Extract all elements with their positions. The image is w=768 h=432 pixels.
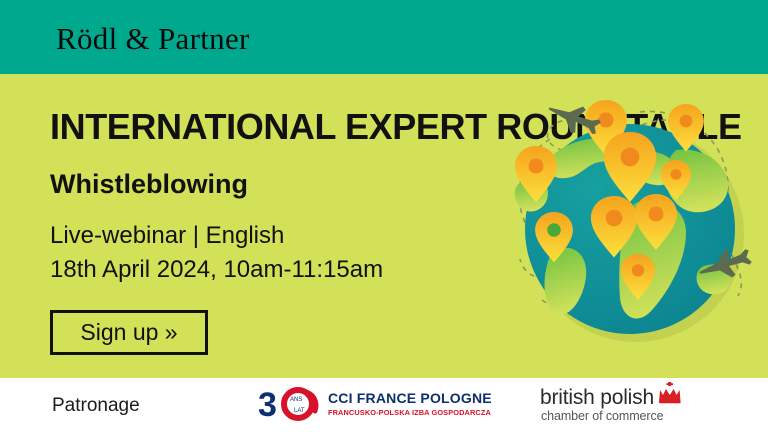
cci-mark-ans-label: ANS [290, 397, 302, 403]
cci-subtitle: FRANCUSKO-POLSKA IZBA GOSPODARCZA [328, 408, 492, 417]
webinar-promo-banner: Rödl & Partner INTERNATIONAL EXPERT ROUN… [0, 0, 768, 432]
cci-text-wrap: CCI FRANCE POLOGNE FRANCUSKO-POLSKA IZBA… [328, 390, 492, 417]
bpcc-subtitle: chamber of commerce [541, 409, 663, 423]
bpcc-title: british polish [540, 386, 654, 410]
event-datetime-text: 18th April 2024, 10am-11:15am [50, 256, 383, 284]
svg-text:3: 3 [258, 386, 277, 424]
cci-mark-lat-label: LAT [294, 408, 305, 414]
main-content-panel: INTERNATIONAL EXPERT ROUNDTABLE Whistleb… [0, 74, 768, 378]
partner-logo-cci-france-pologne[interactable]: 3 ANS LAT CCI FRANCE POLOGNE FRANCUSKO-P… [258, 384, 533, 426]
sign-up-button[interactable]: Sign up » [50, 310, 208, 355]
crown-icon [657, 382, 683, 404]
patronage-label: Patronage [52, 395, 140, 417]
brand-logo: Rödl & Partner [56, 21, 250, 57]
header-bar: Rödl & Partner [0, 0, 768, 74]
footer-bar: Patronage 3 ANS LAT CCI FRANCE POLOGNE F… [0, 378, 768, 432]
partner-logo-british-polish-chamber[interactable]: british polish chamber of commerce [540, 384, 740, 426]
cci-anniversary-mark-icon: 3 ANS LAT [258, 384, 326, 424]
world-globe-illustration [490, 84, 768, 354]
cci-title: CCI FRANCE POLOGNE [328, 390, 492, 406]
topic-subtitle: Whistleblowing [50, 169, 248, 200]
event-format-text: Live-webinar | English [50, 222, 284, 250]
